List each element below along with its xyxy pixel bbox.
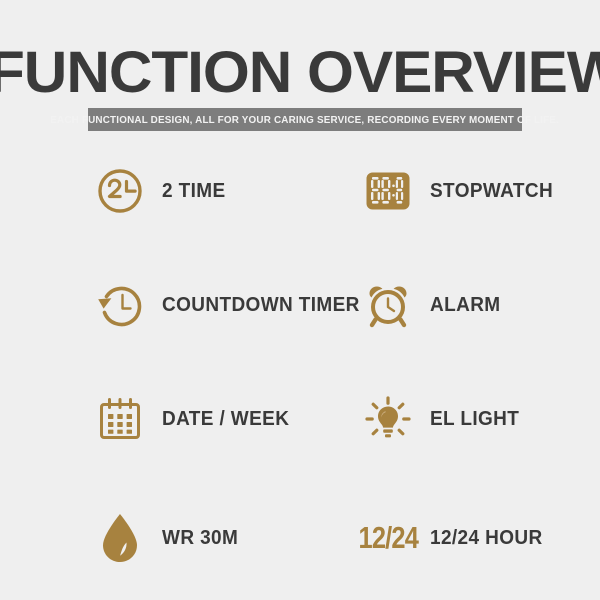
function-overview-page: FUNCTION OVERVIEW EACH FUNCTIONAL DESIGN… — [0, 0, 600, 600]
twelve-twentyfour-icon: 12/24 — [360, 510, 416, 566]
feature-label: WR 30M — [162, 527, 238, 550]
feature-label: COUNTDOWN TIMER — [162, 294, 360, 317]
subtitle-banner: EACH FUNCTIONAL DESIGN, ALL FOR YOUR CAR… — [88, 108, 522, 131]
feature-label: STOPWATCH — [430, 180, 553, 203]
feature-label: ALARM — [430, 294, 501, 317]
feature-item-el-light: EL LIGHT — [360, 386, 600, 452]
feature-item-2-time: 2 TIME — [92, 158, 362, 224]
twelve-twentyfour-icon-text: 12/24 — [358, 520, 418, 556]
feature-item-12-24-hour: 12/24 12/24 HOUR — [360, 505, 600, 571]
page-title: FUNCTION OVERVIEW — [0, 44, 600, 102]
lightbulb-icon — [360, 391, 416, 447]
water-drop-icon — [92, 510, 148, 566]
countdown-timer-icon — [92, 277, 148, 333]
feature-label: EL LIGHT — [430, 408, 519, 431]
feature-label: 12/24 HOUR — [430, 527, 543, 550]
feature-item-wr-30m: WR 30M — [92, 505, 362, 571]
calendar-icon — [92, 391, 148, 447]
feature-item-stopwatch: STOPWATCH — [360, 158, 600, 224]
alarm-clock-icon — [360, 277, 416, 333]
dual-time-clock-icon — [92, 163, 148, 219]
stopwatch-digital-icon — [360, 163, 416, 219]
header: FUNCTION OVERVIEW EACH FUNCTIONAL DESIGN… — [0, 44, 600, 102]
feature-item-countdown-timer: COUNTDOWN TIMER — [92, 272, 362, 338]
feature-item-date-week: DATE / WEEK — [92, 386, 362, 452]
feature-label: DATE / WEEK — [162, 408, 289, 431]
feature-label: 2 TIME — [162, 180, 226, 203]
subtitle-text: EACH FUNCTIONAL DESIGN, ALL FOR YOUR CAR… — [51, 114, 560, 126]
feature-item-alarm: ALARM — [360, 272, 600, 338]
feature-grid: 2 TIME — [0, 150, 600, 590]
